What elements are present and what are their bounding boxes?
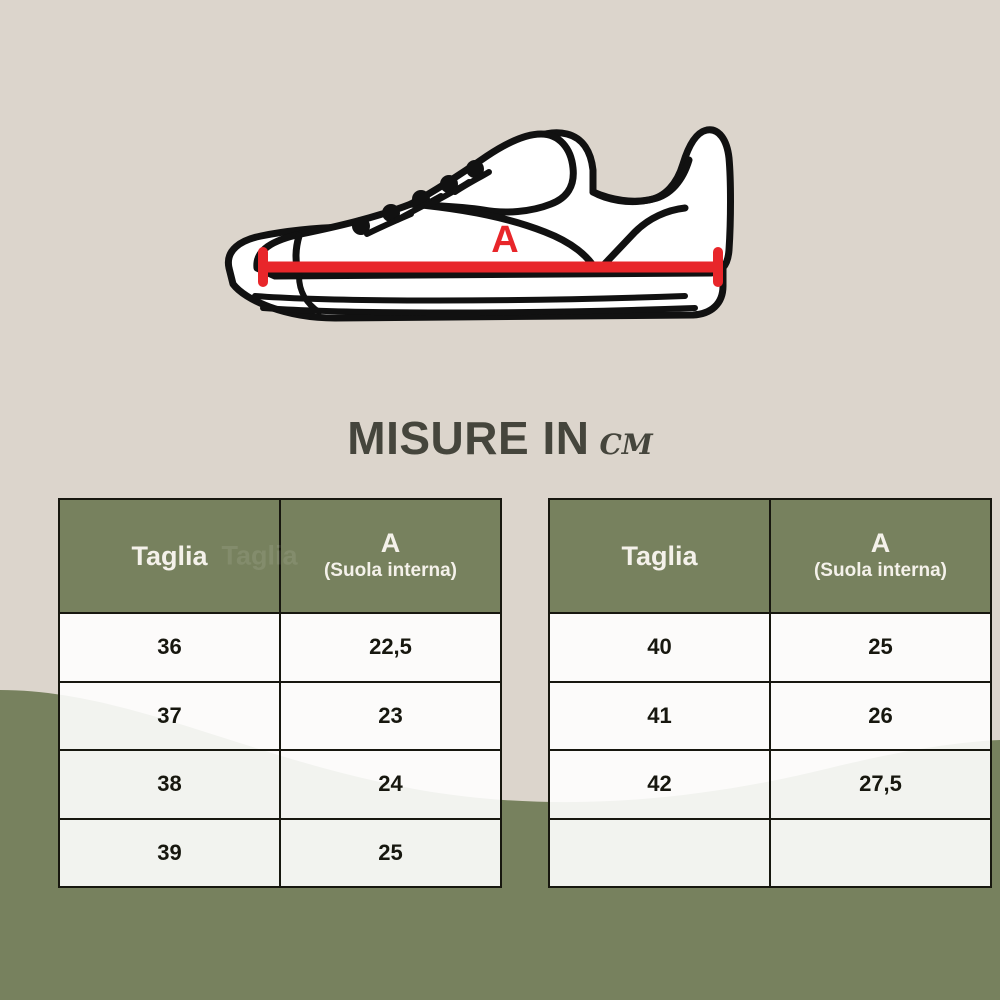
cell-size: 41: [549, 682, 770, 751]
cell-a: 25: [770, 613, 991, 682]
header-row: Taglia A (Suola interna): [549, 499, 991, 613]
size-table-right: Taglia A (Suola interna) 40 25 41 26: [548, 498, 992, 888]
table-header-left: Taglia Taglia A (Suola interna): [59, 499, 501, 613]
table-row: 42 27,5: [549, 750, 991, 819]
cell-size: 38: [59, 750, 280, 819]
cell-a: 22,5: [280, 613, 501, 682]
cell-size: 37: [59, 682, 280, 751]
table-row: 40 25: [549, 613, 991, 682]
cell-size: 40: [549, 613, 770, 682]
table-row: 36 22,5: [59, 613, 501, 682]
header-cell-a: A (Suola interna): [770, 499, 991, 613]
sneaker-illustration: A: [215, 100, 775, 355]
table-row: 41 26: [549, 682, 991, 751]
title-unit: cm: [599, 417, 652, 464]
cell-a: 26: [770, 682, 991, 751]
title-main: MISURE IN: [347, 412, 589, 464]
cell-size: 42: [549, 750, 770, 819]
header-label-a: A: [281, 528, 500, 558]
header-label-a: A: [771, 528, 990, 558]
page-title: MISURE INcm: [0, 408, 1000, 471]
table-row: [549, 819, 991, 888]
cell-a: 27,5: [770, 750, 991, 819]
size-tables: Taglia Taglia A (Suola interna) 36 22,5 …: [58, 498, 992, 888]
table-row: 38 24: [59, 750, 501, 819]
header-cell-taglia: Taglia Taglia: [59, 499, 280, 613]
cell-a: [770, 819, 991, 888]
cell-size: 36: [59, 613, 280, 682]
header-sublabel-suola-interna: (Suola interna): [771, 558, 990, 584]
table-body-right: 40 25 41 26 42 27,5: [549, 613, 991, 887]
cell-a: 25: [280, 819, 501, 888]
header-row: Taglia Taglia A (Suola interna): [59, 499, 501, 613]
table-body-left: 36 22,5 37 23 38 24 39 25: [59, 613, 501, 887]
measure-label-a: A: [491, 219, 518, 261]
cell-a: 24: [280, 750, 501, 819]
header-sublabel-suola-interna: (Suola interna): [281, 558, 500, 584]
size-table-left: Taglia Taglia A (Suola interna) 36 22,5 …: [58, 498, 502, 888]
header-label-taglia: Taglia: [621, 541, 697, 571]
header-cell-taglia: Taglia: [549, 499, 770, 613]
table-header-right: Taglia A (Suola interna): [549, 499, 991, 613]
header-cell-a: A (Suola interna): [280, 499, 501, 613]
cell-a: 23: [280, 682, 501, 751]
header-label-taglia: Taglia: [131, 541, 207, 571]
cell-size: [549, 819, 770, 888]
sneaker-svg: A: [215, 100, 775, 355]
table-row: 37 23: [59, 682, 501, 751]
table-row: 39 25: [59, 819, 501, 888]
cell-size: 39: [59, 819, 280, 888]
size-chart-page: A MISURE INcm Taglia Taglia A (Suola int…: [0, 0, 1000, 1000]
